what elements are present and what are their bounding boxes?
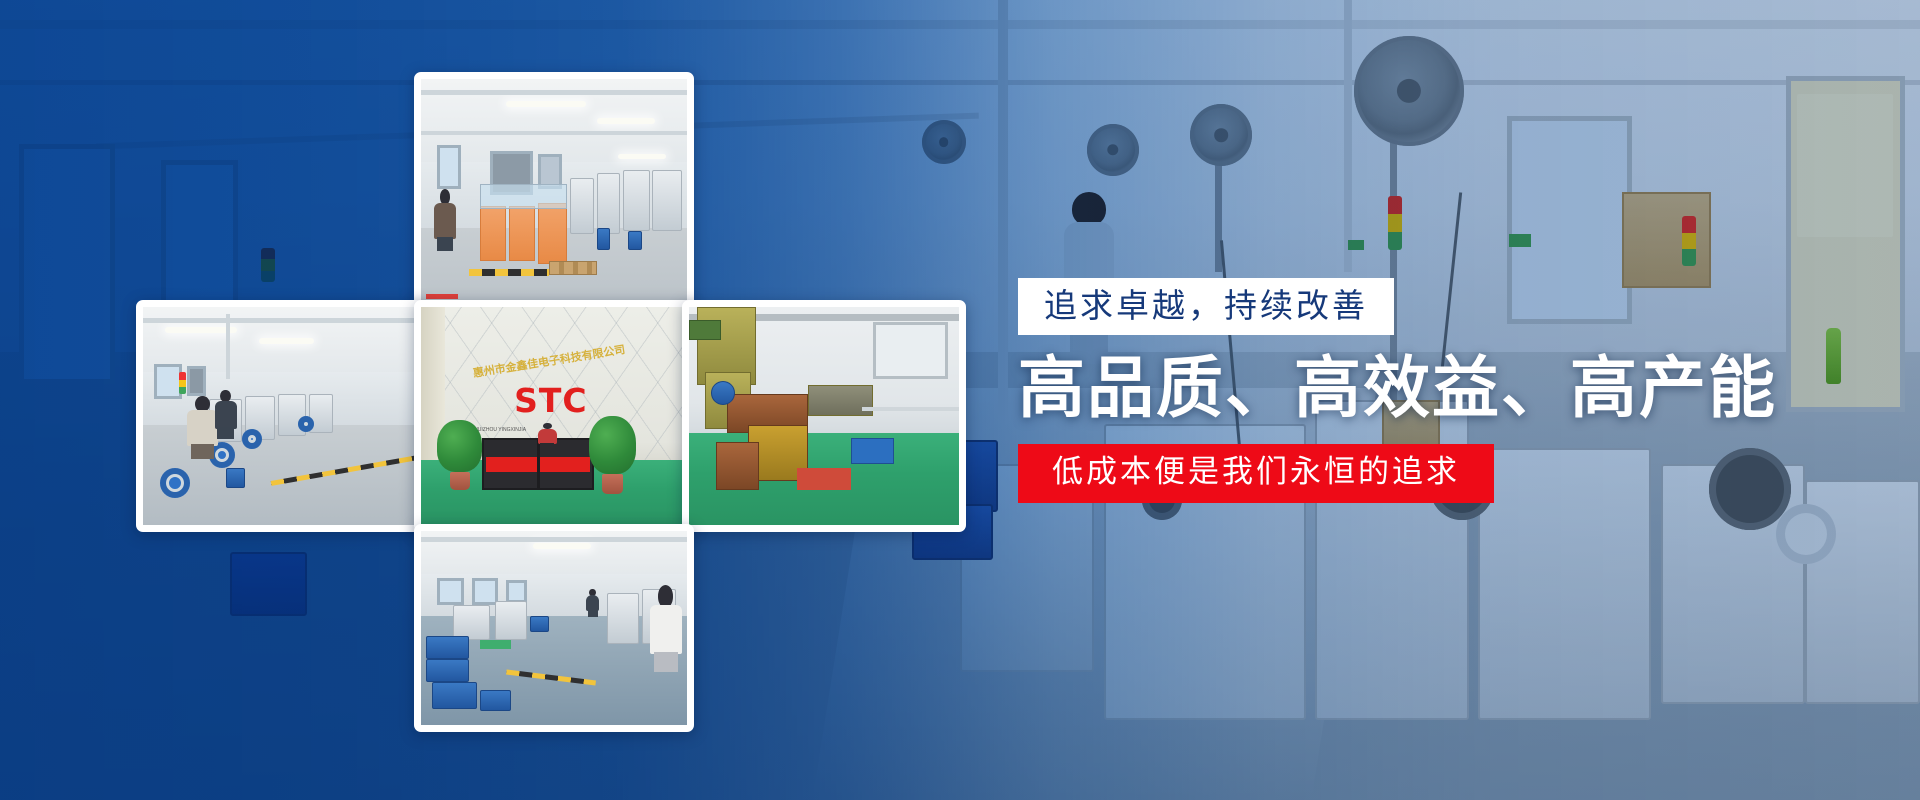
collage-photo-center-lobby[interactable]: 惠州市金鑫佳电子科技有限公司 STC HUIZHOU YINGXINJIA CO…	[414, 300, 694, 532]
collage-photo-left[interactable]	[136, 300, 426, 532]
potted-plant	[437, 420, 482, 490]
hero-headline: 高品质、高效益、高产能	[1018, 351, 1738, 426]
collage-photo-bottom[interactable]	[414, 524, 694, 732]
potted-plant	[589, 416, 637, 494]
hero-banner: 惠州市金鑫佳电子科技有限公司 STC HUIZHOU YINGXINJIA CO…	[0, 0, 1920, 800]
hero-text-block: 追求卓越，持续改善 高品质、高效益、高产能 低成本便是我们永恒的追求	[1018, 278, 1738, 503]
tagline-badge: 追求卓越，持续改善	[1018, 278, 1394, 335]
hero-subbar-badge: 低成本便是我们永恒的追求	[1018, 444, 1494, 503]
collage-photo-right[interactable]	[682, 300, 966, 532]
stc-logo: STC	[514, 381, 588, 420]
photo-collage: 惠州市金鑫佳电子科技有限公司 STC HUIZHOU YINGXINJIA CO…	[136, 72, 976, 732]
